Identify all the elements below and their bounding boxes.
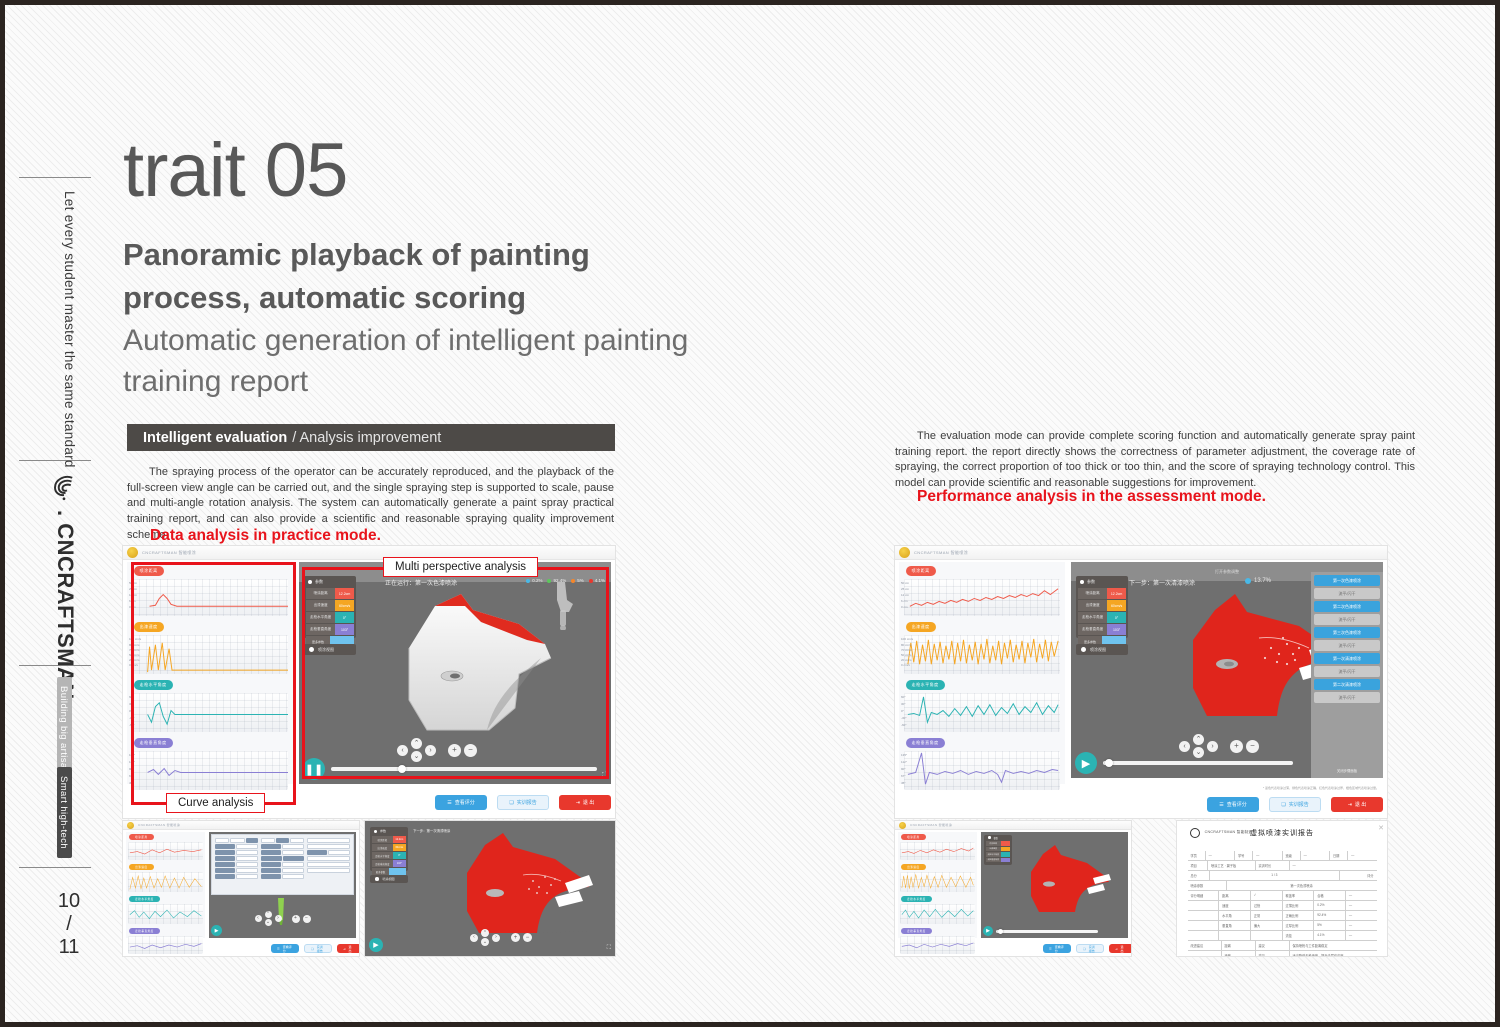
view-rotate-controls[interactable]: ‹ ⌃ ⌄ › + − bbox=[470, 929, 532, 946]
rotate-up-button[interactable]: ⌃ bbox=[481, 929, 489, 937]
training-report-button[interactable]: ❏实训报告 bbox=[1076, 944, 1104, 953]
rotate-down-button[interactable]: ⌄ bbox=[481, 938, 489, 946]
viewer-status-text: 下一步：第一次清漆喷涂 bbox=[1129, 578, 1195, 587]
step-item[interactable]: 流平/闪干 bbox=[1314, 614, 1380, 625]
app-brand-text: CNCRAFTSMAN 智能喷涂 bbox=[138, 823, 180, 827]
curve-group: 喷涂距离 50 cm 25 cm 12 cm 6 cm 0 cm bbox=[899, 566, 1065, 618]
curve-tag: 喷涂距离 bbox=[129, 834, 153, 840]
coverage-dot-icon bbox=[1245, 578, 1251, 584]
curve-analysis-board: 喷涂距离 出漆速度 走枪水平角度 走枪垂直角度 bbox=[898, 832, 977, 938]
rotate-up-button[interactable]: ⌃ bbox=[265, 911, 272, 918]
left-rail: Let every student master the same standa… bbox=[5, 5, 105, 1022]
rotate-right-button[interactable]: › bbox=[275, 915, 282, 922]
action-button-row[interactable]: ☰查看评分 ❏实训报告 ⇥退 出 bbox=[271, 944, 359, 953]
screenshot-assessment-curves: CNCRAFTSMAN 智能喷涂 喷涂距离 出漆速度 走枪水平角度 走枪垂直角度 bbox=[895, 821, 1131, 956]
app-titlebar: CNCRAFTSMAN 智能喷涂 bbox=[895, 546, 1387, 560]
curve-group: 出漆速度 100 cm/s 80 cm/s 70 cm/s 50 cm/s 20… bbox=[899, 622, 1065, 676]
section-bar: Intelligent evaluation / Analysis improv… bbox=[127, 424, 615, 451]
highlight-box-curve bbox=[131, 562, 296, 805]
screenshot-training-report: CNCRAFTSMAN 智能制造 虚拟喷漆实训报告 学员—学号—班级—日期— 项… bbox=[1177, 821, 1387, 956]
table-row: 速度建议适当降低走枪速度，提升涂层均匀度 bbox=[1188, 951, 1377, 956]
view-score-button[interactable]: ☰ 查看评分 bbox=[1207, 797, 1259, 812]
zoom-out-button[interactable]: − bbox=[303, 915, 311, 923]
right-body-paragraph: The evaluation mode can provide complete… bbox=[895, 429, 1415, 492]
report-sheet: CNCRAFTSMAN 智能制造 虚拟喷漆实训报告 学员—学号—班级—日期— 项… bbox=[1177, 821, 1387, 956]
curve-tag: 走枪水平角度 bbox=[129, 896, 160, 902]
step-item[interactable]: 第二次清漆喷涂 bbox=[1314, 679, 1380, 690]
list-icon: ☰ bbox=[277, 947, 280, 951]
app-titlebar: CNCRAFTSMAN 智能喷涂 bbox=[895, 821, 1131, 830]
left-red-caption: Data analysis in practice mode. bbox=[150, 527, 381, 545]
view-dot-icon bbox=[1081, 647, 1086, 652]
view-rotate-controls[interactable]: ‹ ⌃ ⌄ › + − bbox=[255, 911, 311, 926]
table-row: 喷涂参数第一次色漆喷涂 bbox=[1188, 881, 1377, 891]
table-row: 流挂4.1%— bbox=[1188, 931, 1377, 941]
app-titlebar: CNCRAFTSMAN 智能喷涂 bbox=[123, 821, 359, 830]
table-row: 速度过快过薄比例0.2%— bbox=[1188, 901, 1377, 911]
list-icon: ☰ bbox=[1219, 802, 1223, 808]
step-item[interactable]: 流平/闪干 bbox=[1314, 666, 1380, 677]
callout-curve-analysis: Curve analysis bbox=[166, 793, 265, 813]
app-brand-text: CNCRAFTSMAN 智能喷涂 bbox=[914, 550, 968, 556]
training-report-button[interactable]: ❏实训报告 bbox=[304, 944, 332, 953]
training-report-button[interactable]: ❏ 实训报告 bbox=[497, 795, 549, 810]
curve-tag: 走枪垂直角度 bbox=[129, 928, 160, 934]
report-icon: ❏ bbox=[1083, 947, 1086, 951]
curve-plot bbox=[904, 635, 1060, 674]
page-subtitle: Automatic generation of intelligent pain… bbox=[123, 321, 723, 402]
exit-icon: ⇥ bbox=[1348, 802, 1352, 808]
step-item[interactable]: 流平/闪干 bbox=[1314, 640, 1380, 651]
coverage-viewer[interactable]: 参数 喷涂距离 出漆速度 走枪水平角度 走枪垂直角度 ▶ bbox=[981, 832, 1128, 938]
parameter-panel[interactable]: 参数 喷涂距离12.2cm 出漆速度60cm/s 走枪水平角度0° 走枪垂直角度… bbox=[1076, 576, 1128, 638]
play-button[interactable]: ▶ bbox=[1075, 752, 1097, 774]
view-toggle-panel[interactable]: 喷涂视图 bbox=[1076, 644, 1128, 655]
step-list-panel[interactable]: 第一次色漆喷涂 流平/闪干 第二次色漆喷涂 流平/闪干 第三次色漆喷涂 流平/闪… bbox=[1311, 572, 1383, 778]
view-score-button[interactable]: ☰查看评分 bbox=[1043, 944, 1071, 953]
parameter-adjust-viewer[interactable]: ‹ ⌃ ⌄ › + − ▶ bbox=[209, 832, 356, 938]
exit-icon: ⇥ bbox=[343, 947, 346, 951]
curve-analysis-board: 喷涂距离 50 cm 25 cm 12 cm 6 cm 0 cm 出漆速度 bbox=[899, 562, 1065, 784]
vehicle-fender-model-red[interactable] bbox=[437, 831, 597, 941]
table-row: 项目喷涂工艺 · 翼子板实训时长— bbox=[1188, 861, 1377, 871]
panel-dot-icon bbox=[1080, 580, 1084, 584]
callout-multi-perspective: Multi perspective analysis bbox=[383, 557, 538, 577]
app-titlebar: CNCRAFTSMAN 智能喷涂 bbox=[123, 546, 615, 560]
section-bar-normal: / Analysis improvement bbox=[292, 430, 441, 446]
report-icon: ❏ bbox=[509, 800, 513, 806]
rotate-down-button[interactable]: ⌄ bbox=[265, 919, 272, 926]
page-number: 10 / 11 bbox=[51, 890, 87, 959]
page-eyebrow: trait 05 bbox=[123, 133, 347, 209]
curve-plot bbox=[904, 579, 1060, 616]
curve-analysis-board: 喷涂距离 出漆速度 走枪水平角度 走枪垂直角度 bbox=[126, 832, 205, 938]
action-button-row[interactable]: ☰查看评分 ❏实训报告 ⇥退 出 bbox=[1043, 944, 1131, 953]
cncraftsman-logo-icon bbox=[49, 471, 79, 501]
app-brand-text: CNCRAFTSMAN 智能喷涂 bbox=[142, 550, 196, 556]
parameter-dialog[interactable] bbox=[211, 834, 354, 895]
action-button-row[interactable]: ☰ 查看评分 ❏ 实训报告 ⇥ 退 出 bbox=[435, 795, 611, 810]
rotate-up-button[interactable]: ⌃ bbox=[1193, 734, 1204, 745]
rail-tagline: Let every student master the same standa… bbox=[62, 191, 77, 468]
highlight-box-viewer bbox=[302, 567, 609, 779]
screenshot-practice-params: CNCRAFTSMAN 智能喷涂 喷涂距离 出漆速度 走枪水平角度 走枪垂直角度 bbox=[123, 821, 359, 956]
exit-button[interactable]: ⇥ 退 出 bbox=[559, 795, 611, 810]
zoom-in-button[interactable]: + bbox=[1230, 740, 1243, 753]
brand-name: . CNCRAFTSMAN bbox=[52, 510, 78, 700]
play-button[interactable]: ▶ bbox=[369, 938, 383, 952]
rotate-right-button[interactable]: › bbox=[492, 934, 500, 942]
list-icon: ☰ bbox=[1049, 947, 1052, 951]
panel-dot-icon bbox=[374, 830, 377, 833]
page-current: 10 bbox=[51, 890, 87, 913]
rotate-down-button[interactable]: ⌄ bbox=[1193, 747, 1204, 758]
close-icon[interactable]: ✕ bbox=[1378, 824, 1384, 832]
curve-tag: 走枪水平角度 bbox=[906, 680, 945, 690]
app-logo-icon bbox=[127, 547, 138, 558]
step-item[interactable]: 第一次色漆喷涂 bbox=[1314, 575, 1380, 586]
timeline-scrubber[interactable] bbox=[996, 930, 1098, 933]
parameter-panel[interactable]: 参数 喷涂距离 出漆速度 走枪水平角度 走枪垂直角度 bbox=[984, 835, 1012, 865]
view-rotate-controls[interactable]: ‹ ⌃ ⌄ › + − bbox=[1179, 734, 1259, 758]
rotate-left-button[interactable]: ‹ bbox=[470, 934, 478, 942]
curve-group: 走枪水平角度 60° 30° 0° -30° -60° bbox=[899, 680, 1065, 734]
step-item[interactable]: 流平/闪干 bbox=[1314, 588, 1380, 599]
viewer-footnote: * 蓝色代表喷涂过薄，绿色代表喷涂正确，红色代表喷涂过厚，橙色区域代表喷涂过量。 bbox=[1263, 786, 1379, 790]
view-score-button[interactable]: ☰ 查看评分 bbox=[435, 795, 487, 810]
step-item[interactable]: 第三次色漆喷涂 bbox=[1314, 627, 1380, 638]
table-row: 总分1 / 3评分 bbox=[1188, 871, 1377, 881]
curve-tag: 走枪垂直角度 bbox=[906, 738, 945, 748]
exit-button[interactable]: ⇥退 出 bbox=[1109, 944, 1131, 953]
brochure-page: Let every student master the same standa… bbox=[5, 5, 1495, 1022]
app-logo-icon bbox=[127, 822, 134, 829]
rotate-right-button[interactable]: › bbox=[1207, 741, 1218, 752]
exit-icon: ⇥ bbox=[576, 800, 580, 806]
zoom-in-button[interactable]: + bbox=[292, 915, 300, 923]
timeline-scrubber[interactable] bbox=[1103, 761, 1293, 765]
view-dot-icon bbox=[375, 877, 379, 881]
screenshot-assessment-main: CNCRAFTSMAN 智能喷涂 喷涂距离 50 cm 25 cm 12 cm … bbox=[895, 546, 1387, 818]
step-item[interactable]: 流平/闪干 bbox=[1314, 692, 1380, 703]
curve-plot bbox=[904, 693, 1060, 732]
exit-icon: ⇥ bbox=[1115, 947, 1118, 951]
table-row: 评分明细距离√覆盖率合格— bbox=[1188, 891, 1377, 901]
play-button[interactable]: ▶ bbox=[211, 925, 222, 936]
brand-lockup: . CNCRAFTSMAN bbox=[49, 471, 79, 700]
table-row: 垂直角偏大过厚比例5%— bbox=[1188, 921, 1377, 931]
section-bar-bold: Intelligent evaluation bbox=[143, 430, 287, 446]
page-total: 11 bbox=[51, 936, 87, 959]
curve-plot bbox=[904, 751, 1060, 790]
panel-dot-icon bbox=[988, 836, 991, 839]
report-title: 虚拟喷漆实训报告 bbox=[1177, 828, 1387, 838]
assessment-viewer[interactable]: 打开参数调整 下一步：第一次清漆喷涂 13.7% 参数 喷涂距离12.2cm 出… bbox=[1071, 562, 1383, 778]
play-button[interactable]: ▶ bbox=[983, 926, 993, 936]
parameter-panel[interactable]: 参数 喷涂距离12.2cm 出漆速度60cm/s 走枪水平角度0° 走枪垂直角度… bbox=[370, 827, 408, 871]
report-icon: ❏ bbox=[311, 947, 314, 951]
vehicle-fender-model-red[interactable] bbox=[1013, 844, 1113, 916]
report-icon: ❏ bbox=[1281, 802, 1285, 808]
coverage-percent: 13.7% bbox=[1245, 578, 1271, 584]
zoom-in-button[interactable]: + bbox=[511, 933, 520, 942]
action-button-row[interactable]: ☰ 查看评分 ❏ 实训报告 ⇥ 退 出 bbox=[1207, 797, 1383, 812]
rail-pill-hightech: Smart high-tech bbox=[57, 767, 72, 858]
step-item[interactable]: 第一次清漆喷涂 bbox=[1314, 653, 1380, 664]
curve-group: 走枪垂直角度 135° 112° 90° 67° 45° bbox=[899, 738, 1065, 792]
curve-tag: 喷涂距离 bbox=[906, 566, 936, 576]
step-item[interactable]: 第二次色漆喷涂 bbox=[1314, 601, 1380, 612]
table-row: 改进建议距离建议保持喷枪与工件距离稳定 bbox=[1188, 941, 1377, 951]
list-icon: ☰ bbox=[447, 800, 451, 806]
exit-button[interactable]: ⇥退 出 bbox=[337, 944, 359, 953]
curve-tag: 喷涂距离 bbox=[901, 834, 925, 840]
app-logo-icon bbox=[899, 822, 906, 829]
coverage-viewer[interactable]: 参数 喷涂距离12.2cm 出漆速度60cm/s 走枪水平角度0° 走枪垂直角度… bbox=[365, 821, 615, 956]
zoom-out-button[interactable]: − bbox=[523, 933, 532, 942]
curve-tag: 走枪水平角度 bbox=[901, 896, 932, 902]
curve-tag: 出漆速度 bbox=[906, 622, 936, 632]
page-title: Panoramic playback of painting process, … bbox=[123, 233, 703, 320]
report-table: 学员—学号—班级—日期— 项目喷涂工艺 · 翼子板实训时长— 总分1 / 3评分… bbox=[1188, 851, 1377, 956]
parameter-panel-header: 参数 bbox=[1076, 576, 1128, 587]
app-brand-text: CNCRAFTSMAN 智能喷涂 bbox=[910, 823, 952, 827]
rotate-left-button[interactable]: ‹ bbox=[255, 915, 262, 922]
table-row: 学员—学号—班级—日期— bbox=[1188, 851, 1377, 861]
screenshot-coverage-result: 参数 喷涂距离12.2cm 出漆速度60cm/s 走枪水平角度0° 走枪垂直角度… bbox=[365, 821, 615, 956]
table-row: 水平角正常正确比例92.4%— bbox=[1188, 911, 1377, 921]
zoom-out-button[interactable]: − bbox=[1246, 740, 1259, 753]
steplist-footer[interactable]: 关闭步骤面板 bbox=[1314, 768, 1380, 775]
exit-button[interactable]: ⇥ 退 出 bbox=[1331, 797, 1383, 812]
curve-tag: 出漆速度 bbox=[901, 864, 925, 870]
training-report-button[interactable]: ❏ 实训报告 bbox=[1269, 797, 1321, 812]
view-score-button[interactable]: ☰查看评分 bbox=[271, 944, 299, 953]
app-logo-icon bbox=[899, 547, 910, 558]
curve-tag: 走枪垂直角度 bbox=[901, 928, 932, 934]
rotate-left-button[interactable]: ‹ bbox=[1179, 741, 1190, 752]
view-toggle-panel[interactable]: 喷涂视图 bbox=[370, 875, 408, 883]
curve-tag: 出漆速度 bbox=[129, 864, 153, 870]
fullscreen-icon[interactable]: ⛶ bbox=[607, 945, 611, 952]
right-red-caption: Performance analysis in the assessment m… bbox=[917, 488, 1266, 506]
page-separator: / bbox=[51, 913, 87, 936]
